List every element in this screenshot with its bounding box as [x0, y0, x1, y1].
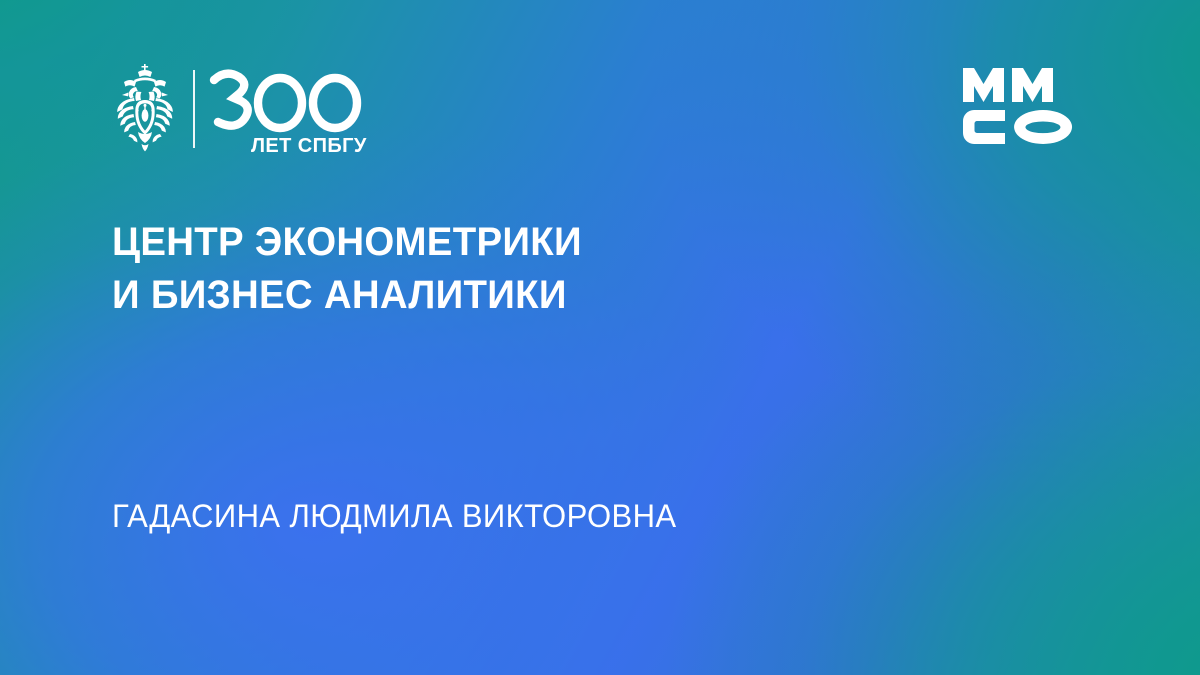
- presentation-slide: ЛЕТ СПБГУ ЦЕНТР ЭКОНОМЕТРИКИ И БИЗНЕС АН…: [0, 0, 1200, 675]
- spbu-coat-of-arms-icon: [108, 62, 182, 158]
- presenter-name: ГАДАСИНА ЛЮДМИЛА ВИКТОРОВНА: [112, 496, 677, 536]
- anniversary-caption: ЛЕТ СПБГУ: [251, 135, 367, 157]
- anniversary-300-mark: ЛЕТ СПБГУ: [207, 60, 371, 160]
- logo-divider: [193, 70, 195, 148]
- mmco-logo: [961, 66, 1081, 146]
- spbu-anniversary-logo: ЛЕТ СПБГУ: [108, 60, 370, 160]
- page-title: ЦЕНТР ЭКОНОМЕТРИКИ И БИЗНЕС АНАЛИТИКИ: [112, 216, 726, 322]
